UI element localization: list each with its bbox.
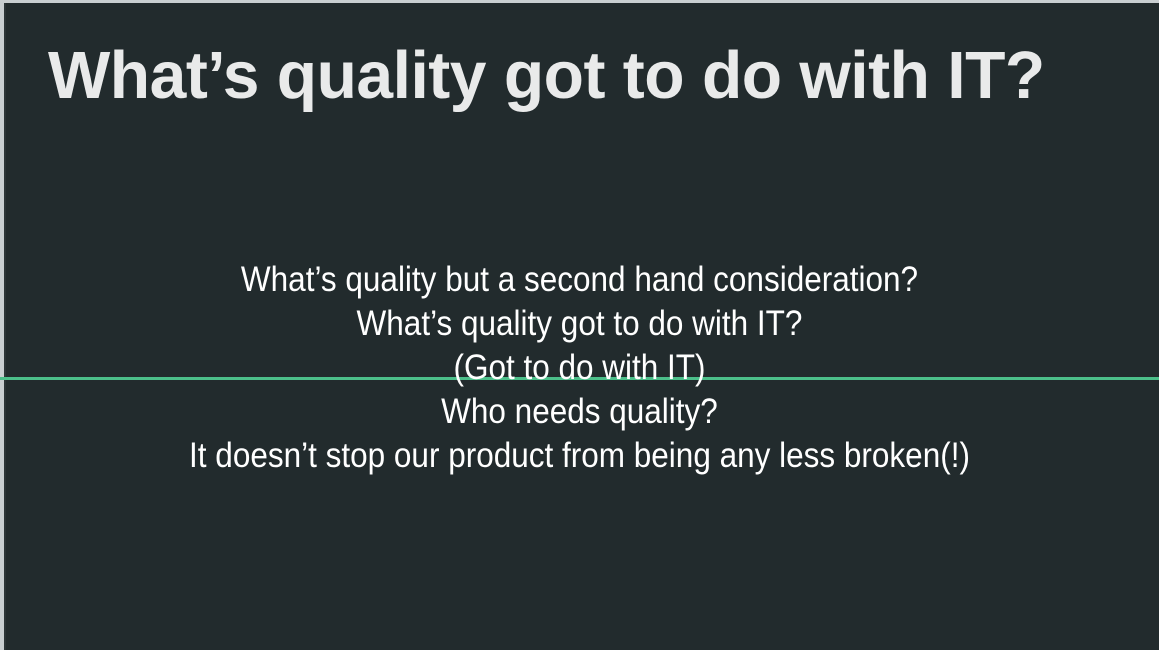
body-line: It doesn’t stop our product from being a… <box>58 434 1101 478</box>
body-line: What’s quality but a second hand conside… <box>58 258 1101 302</box>
body-line: Who needs quality? <box>58 390 1101 434</box>
body-line: What’s quality got to do with IT? <box>58 302 1101 346</box>
presentation-slide: What’s quality got to do with IT? What’s… <box>0 0 1159 650</box>
slide-title: What’s quality got to do with IT? <box>48 38 1107 114</box>
slide-top-border <box>0 0 1159 3</box>
body-line: (Got to do with IT) <box>58 346 1101 390</box>
slide-body-text: What’s quality but a second hand conside… <box>0 258 1159 478</box>
